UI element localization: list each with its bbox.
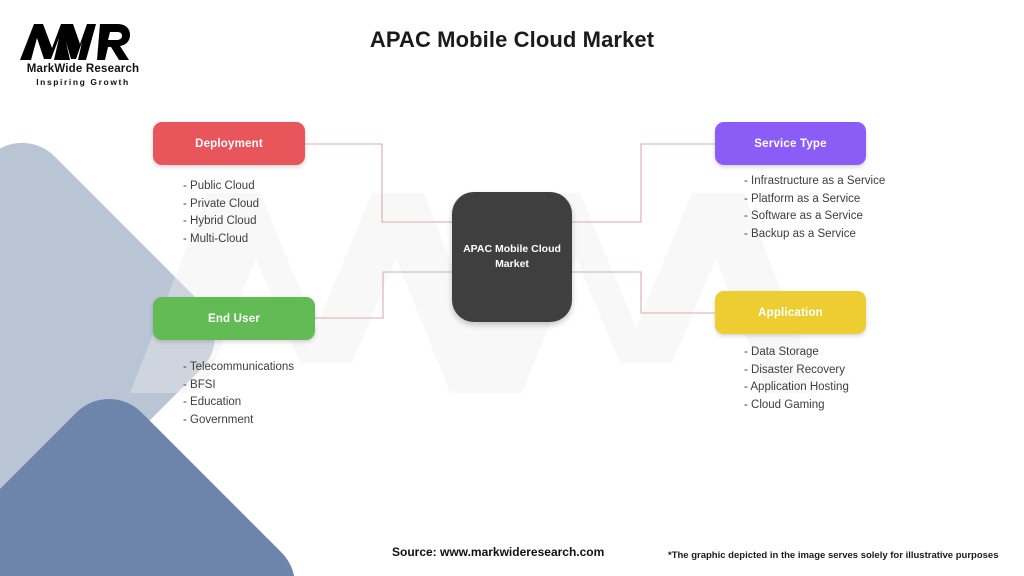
list-item: - Telecommunications <box>183 359 294 377</box>
list-item: - Cloud Gaming <box>744 397 849 415</box>
list-item: - Data Storage <box>744 344 849 362</box>
connector-service-type <box>572 144 715 222</box>
brand-name: MarkWide Research <box>18 63 148 75</box>
branch-node-end-user[interactable]: End User <box>153 297 315 340</box>
branch-list-end-user: - Telecommunications - BFSI - Education … <box>183 359 294 429</box>
branch-node-deployment[interactable]: Deployment <box>153 122 305 165</box>
center-node[interactable]: APAC Mobile Cloud Market <box>452 192 572 322</box>
branch-list-deployment: - Public Cloud - Private Cloud - Hybrid … <box>183 178 259 248</box>
list-item: - Software as a Service <box>744 208 885 226</box>
list-item: - Platform as a Service <box>744 191 885 209</box>
list-item: - Backup as a Service <box>744 226 885 244</box>
connector-end-user <box>315 272 452 318</box>
page-title: APAC Mobile Cloud Market <box>0 27 1024 53</box>
connector-deployment <box>305 144 452 222</box>
branch-list-service-type: - Infrastructure as a Service - Platform… <box>744 173 885 243</box>
branch-node-service-type[interactable]: Service Type <box>715 122 866 165</box>
list-item: - Government <box>183 412 294 430</box>
list-item: - BFSI <box>183 377 294 395</box>
list-item: - Hybrid Cloud <box>183 213 259 231</box>
list-item: - Private Cloud <box>183 196 259 214</box>
list-item: - Infrastructure as a Service <box>744 173 885 191</box>
list-item: - Education <box>183 394 294 412</box>
brand-tagline: Inspiring Growth <box>18 77 148 87</box>
list-item: - Public Cloud <box>183 178 259 196</box>
list-item: - Application Hosting <box>744 379 849 397</box>
connector-application <box>572 272 715 313</box>
disclaimer-text: *The graphic depicted in the image serve… <box>668 550 999 561</box>
branch-list-application: - Data Storage - Disaster Recovery - App… <box>744 344 849 414</box>
list-item: - Disaster Recovery <box>744 362 849 380</box>
source-label: Source: www.markwideresearch.com <box>392 545 604 559</box>
infographic-canvas: MarkWide Research Inspiring Growth APAC … <box>0 0 1024 576</box>
branch-node-application[interactable]: Application <box>715 291 866 334</box>
list-item: - Multi-Cloud <box>183 231 259 249</box>
